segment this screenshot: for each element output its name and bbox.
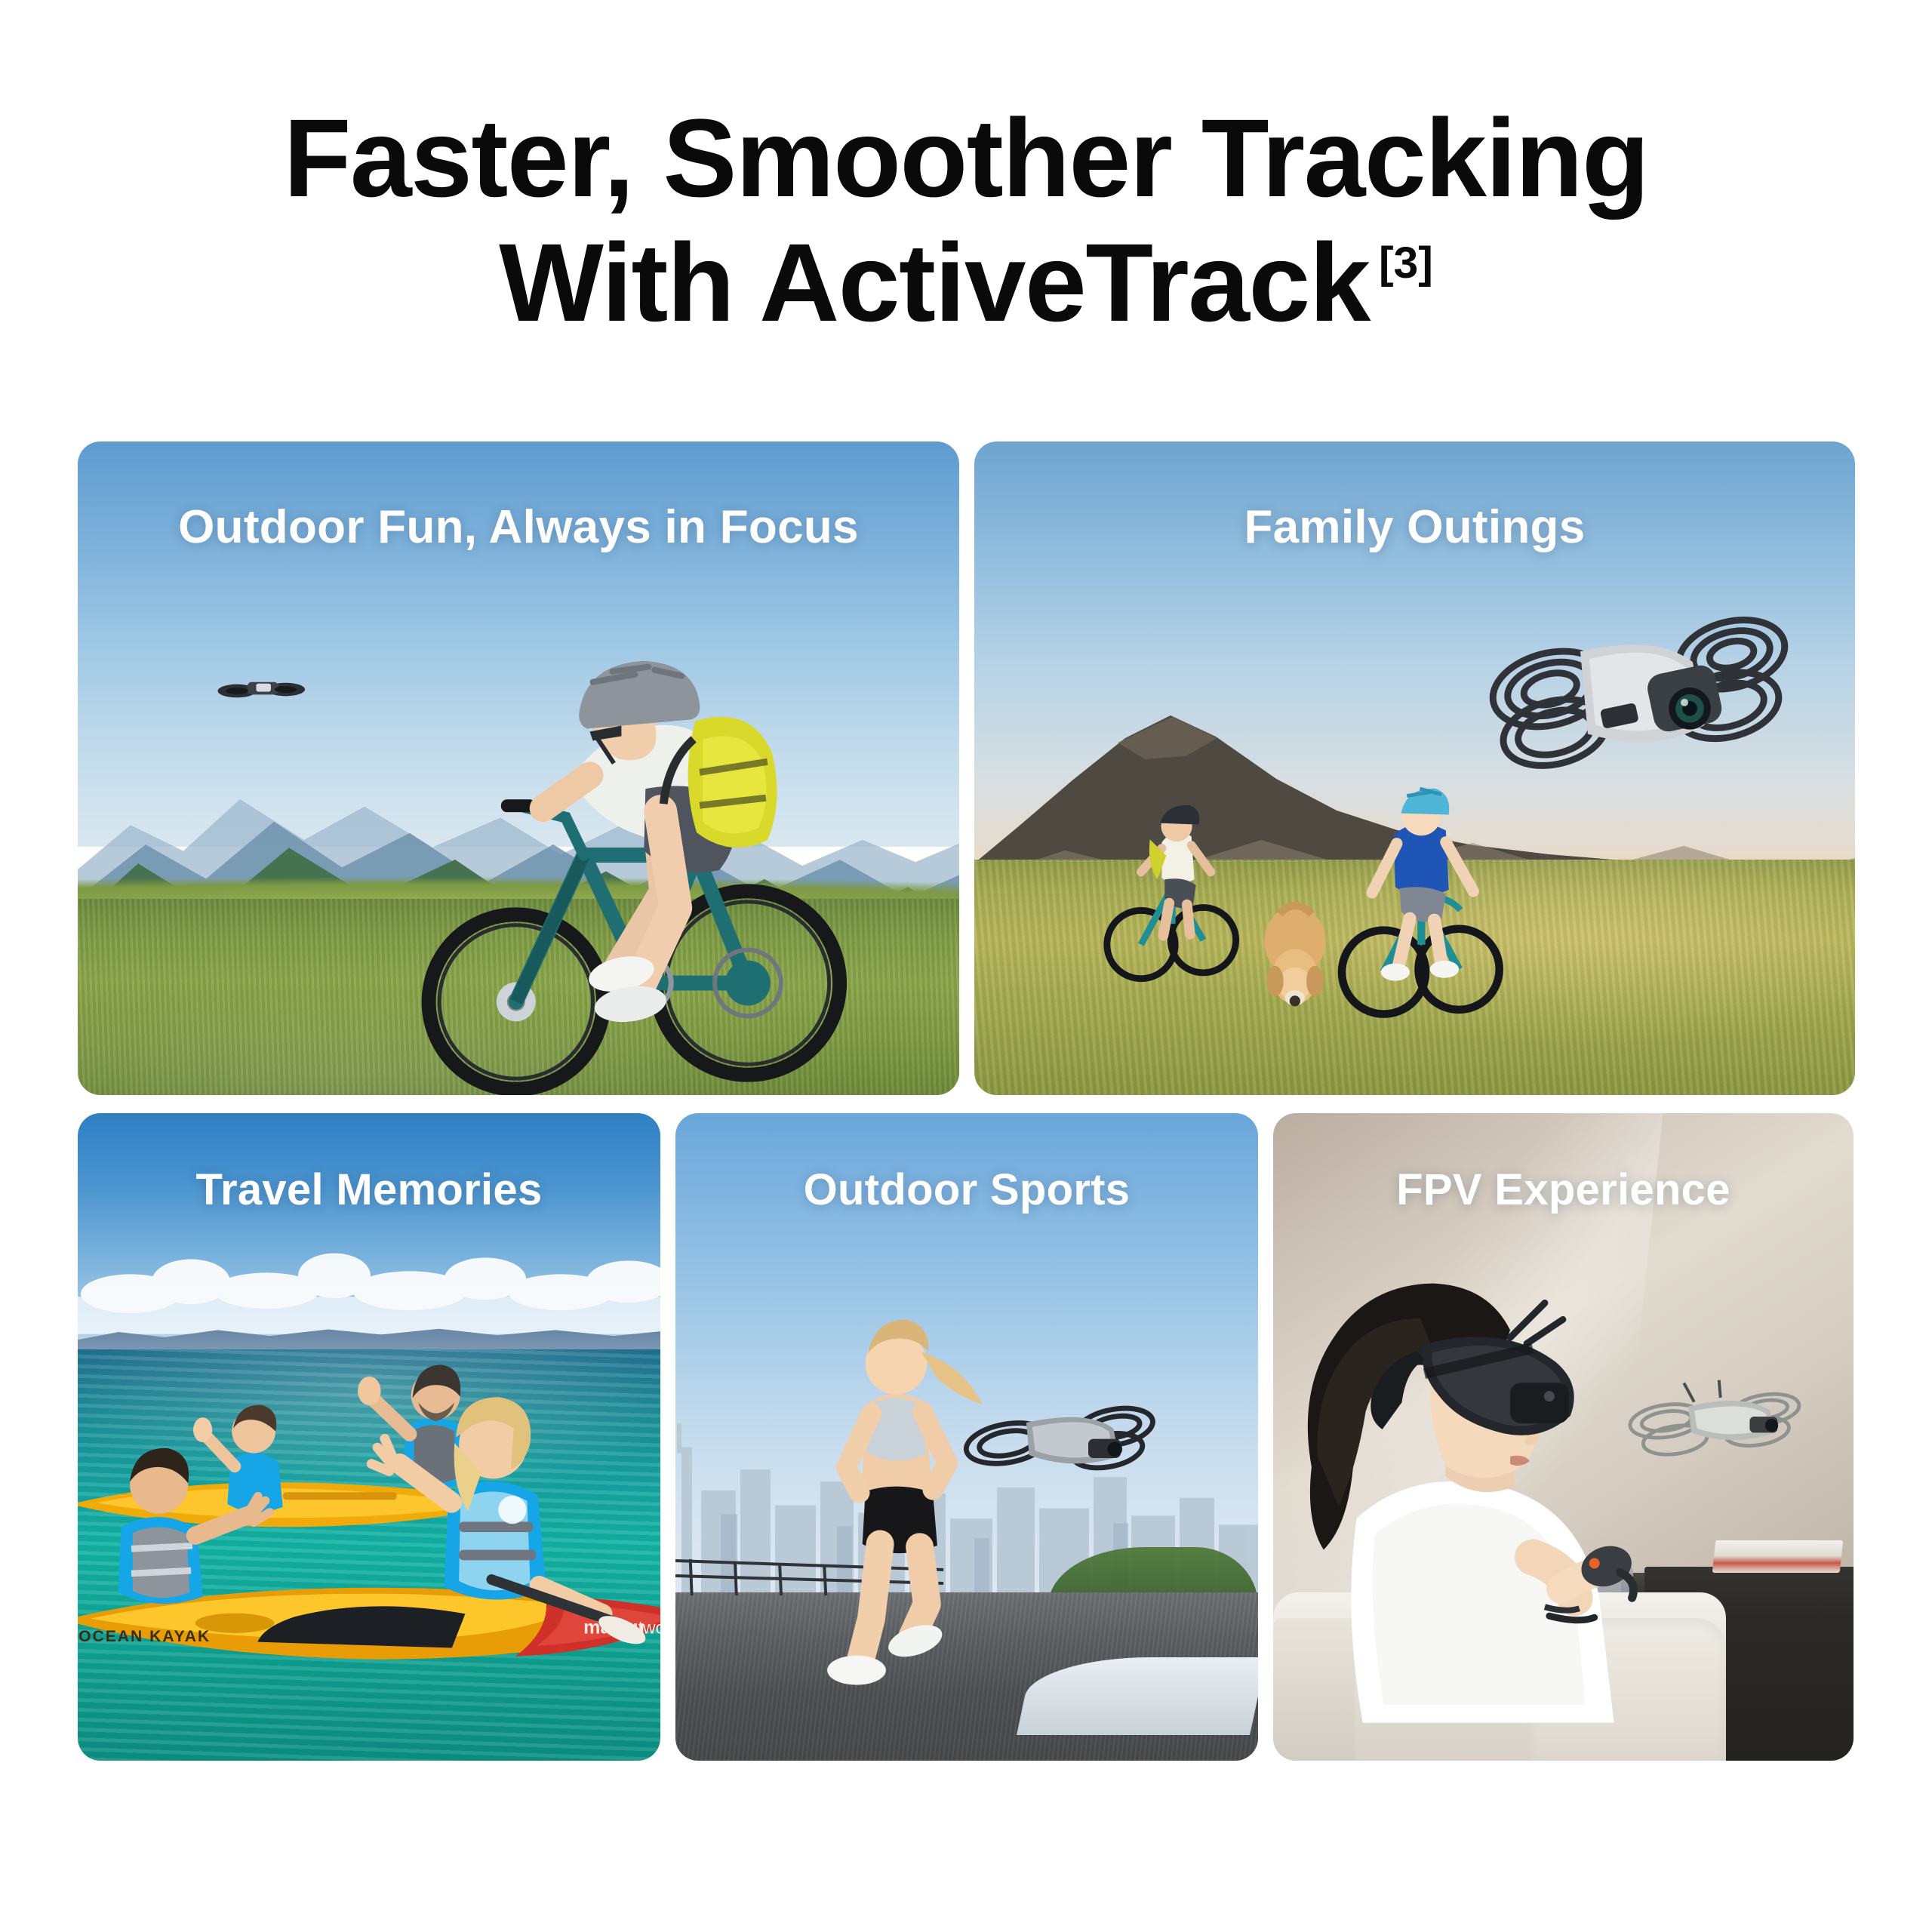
card-label-travel-memories: Travel Memories (78, 1164, 660, 1215)
feature-card-row-bottom: malibu two OCEAN KAYAK (78, 1113, 1855, 1761)
card-fpv-experience[interactable]: FPV Experience (1273, 1113, 1854, 1761)
card-family-outings[interactable]: Family Outings (974, 441, 1855, 1095)
cyclist-adult-icon (1097, 768, 1247, 990)
card-label-fpv-experience: FPV Experience (1273, 1164, 1854, 1215)
card-outdoor-sports[interactable]: Outdoor Sports (675, 1113, 1258, 1761)
drone-large-icon (1468, 598, 1820, 795)
fpv-user-figure-icon (1284, 1217, 1690, 1748)
page-title: Faster, Smoother Tracking With ActiveTra… (0, 97, 1932, 345)
runner-figure-icon (804, 1294, 1001, 1709)
card-label-outdoor-fun: Outdoor Fun, Always in Focus (78, 500, 959, 554)
feature-card-row-top: Outdoor Fun, Always in Focus (78, 441, 1855, 1095)
dog-icon (1238, 886, 1353, 1017)
feature-card-grid: Outdoor Fun, Always in Focus (78, 441, 1855, 1761)
card-label-family-outings: Family Outings (974, 500, 1855, 554)
cyclist-figure-icon (395, 592, 871, 1088)
page-title-line-2: With ActiveTrack[3] (0, 221, 1932, 346)
marketing-page: Faster, Smoother Tracking With ActiveTra… (0, 0, 1932, 1932)
kayaker-legs-icon (229, 1580, 474, 1670)
card-travel-memories[interactable]: malibu two OCEAN KAYAK (78, 1113, 660, 1761)
footnote-marker: [3] (1379, 238, 1433, 288)
page-title-line-1: Faster, Smoother Tracking (0, 97, 1932, 221)
card-outdoor-fun[interactable]: Outdoor Fun, Always in Focus (78, 441, 959, 1095)
page-title-line-2-text: With ActiveTrack (499, 221, 1370, 345)
drone-small-icon (214, 673, 311, 707)
cyclist-child-icon (1327, 755, 1503, 1030)
card-label-outdoor-sports: Outdoor Sports (675, 1164, 1258, 1215)
cloud-band-icon (78, 1204, 660, 1346)
